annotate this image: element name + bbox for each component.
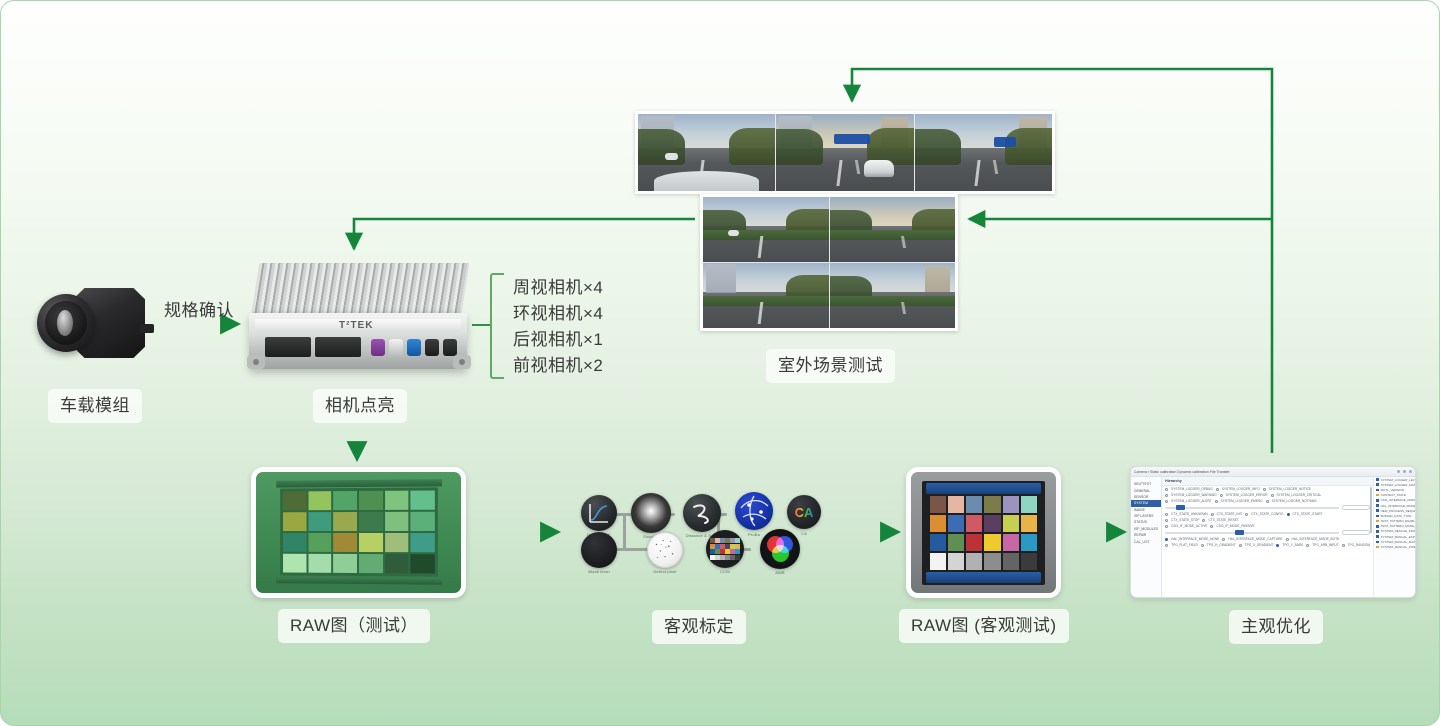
- app-body: SELFTESTGENERALSENSORSYSTEMIMAGEISP LAYE…: [1131, 477, 1415, 598]
- app-slider-row[interactable]: [1162, 529, 1373, 536]
- road-scene-surround-block: [700, 194, 958, 331]
- app-parameter-label: SYSTEM_MANUAL_EXPOSURE: [1381, 535, 1416, 539]
- ccm-patch: [725, 549, 730, 554]
- app-radio-button[interactable]: [1266, 500, 1269, 503]
- colorchecker-patch: [930, 553, 946, 570]
- app-slider-row[interactable]: [1162, 504, 1373, 511]
- calibration-node-caption: Black level: [588, 569, 609, 574]
- app-parameter-item[interactable]: SYSTEM_MANUAL_EXPOSURE: [1374, 534, 1416, 539]
- camera-list-item: 环视相机×4: [513, 301, 603, 327]
- ccm-patch: [725, 544, 730, 549]
- colorchecker-patch: [1021, 515, 1037, 532]
- label-outdoor-scene-test: 室外场景测试: [766, 349, 895, 383]
- app-slider[interactable]: [1165, 507, 1339, 509]
- green-colorchecker-patch: [333, 491, 357, 510]
- label-raw-objective: RAW图 (客观测试): [899, 609, 1069, 643]
- app-radio-button[interactable]: [1201, 544, 1204, 547]
- app-radio-button[interactable]: [1220, 494, 1223, 497]
- app-radio-label: CTX_STATE_INIT: [1217, 512, 1243, 516]
- app-parameter-label: NEW_PROCESS_REQUEST: [1381, 509, 1416, 513]
- ccm-patch: [715, 538, 720, 543]
- app-radio-label: SYSTEM_LOGGER_WARNING: [1171, 493, 1217, 497]
- app-parameter-marker: [1376, 535, 1379, 538]
- app-radio-label: TPG_H_GRADIENT: [1207, 543, 1236, 547]
- green-colorchecker-patch: [411, 533, 435, 552]
- ecu-mount-right: [453, 355, 471, 369]
- app-main-panel: Hierarchy SYSTEM_LOGGER_DEBUGSYSTEM_LOGG…: [1162, 477, 1373, 598]
- green-colorchecker-patch: [283, 512, 306, 531]
- calibration-node-caption: AWB: [775, 570, 785, 575]
- app-parameter-label: CSI2_INTERFACE_MODE: [1381, 498, 1416, 502]
- app-parameter-marker: [1376, 546, 1379, 549]
- diagram-canvas: 车载模组 规格确认 T²TEK 相机点亮 周视相机×4 环视相机×4 后视相机×…: [0, 0, 1440, 726]
- ccm-patch: [730, 549, 735, 554]
- app-radio-button[interactable]: [1239, 544, 1242, 547]
- automotive-camera-module-icon: [21, 280, 161, 366]
- scene-row-upper: [703, 197, 955, 262]
- camera-list-item: 前视相机×2: [513, 353, 603, 379]
- app-radio-label: TPG_V_GRADIENT: [1245, 543, 1274, 547]
- app-radio-label: CTX_STATE_CONFIG: [1251, 512, 1283, 516]
- app-radio-label: CSI2_IF_MODE_ACTIVE: [1171, 524, 1207, 528]
- app-parameter-row[interactable]: TPG_FLAT_FIELDTPG_H_GRADIENTTPG_V_GRADIE…: [1162, 542, 1373, 548]
- app-parameter-list[interactable]: SYSTEM_LOGGER_LEVELSYSTEM_LOGGER_MASKMCT…: [1373, 477, 1416, 598]
- colorchecker-patch: [1021, 534, 1037, 551]
- calibration-node-graph-icon: Distance FF Shading Distance & Scan ProB…: [567, 488, 827, 573]
- app-radio-button[interactable]: [1245, 513, 1248, 516]
- edge-scene-to-ecu: [354, 219, 695, 249]
- colorchecker-patch: [1003, 534, 1019, 551]
- app-parameter-label: SYSTEM_RESCUE_FIRMWARE: [1381, 529, 1416, 533]
- ecu-port-blue: [407, 339, 421, 356]
- calibration-node-distance-ff-icon: [581, 495, 617, 531]
- app-radio-label: TPG_FLAT_FIELD: [1171, 543, 1198, 547]
- app-radio-label: SYSTEM_LOGGER_CRITICAL: [1277, 493, 1322, 497]
- colorchecker-patch: [966, 553, 982, 570]
- calibration-node-black-level-icon: [581, 532, 617, 568]
- calibration-node-caption: ProBa: [748, 532, 760, 537]
- label-camera-module: 车载模组: [48, 389, 142, 423]
- green-colorchecker-patch: [385, 533, 409, 552]
- app-radio-button[interactable]: [1202, 519, 1205, 522]
- label-camera-power-on: 相机点亮: [313, 389, 407, 423]
- green-colorchecker-patch: [308, 533, 331, 552]
- app-parameter-label: MCTL_VERSION: [1381, 488, 1404, 492]
- app-radio-button[interactable]: [1306, 544, 1309, 547]
- ecu-controller-icon: T²TEK: [247, 263, 472, 378]
- app-parameter-item[interactable]: BUFFER_DATA_TYPE: [1374, 513, 1416, 518]
- app-titlebar: Camera ▪ Static calibration Dynamic cali…: [1131, 467, 1415, 477]
- window-minimize-icon[interactable]: [1397, 470, 1400, 473]
- app-radio-label: SYSTEM_LOGGER_EMERG: [1221, 499, 1263, 503]
- colorchecker-patch: [1003, 515, 1019, 532]
- app-parameter-item[interactable]: HAL_INTERFACE_MODE: [1374, 503, 1416, 508]
- app-radio-label: TPG_ARB_INPUT: [1312, 543, 1338, 547]
- app-radio-button[interactable]: [1263, 488, 1266, 491]
- calibration-node-distance-scan-icon: [683, 494, 721, 532]
- scene-photo-surround-4: [829, 263, 956, 328]
- ecu-port-black-b: [443, 339, 457, 356]
- camera-connector: [140, 324, 154, 333]
- app-radio-button[interactable]: [1165, 500, 1168, 503]
- ecu-mount-left: [247, 355, 265, 369]
- green-colorchecker-patch: [385, 491, 409, 510]
- colorchecker-patch: [984, 496, 1000, 513]
- ccm-patch: [715, 555, 720, 560]
- app-titlebar-text: Camera ▪ Static calibration Dynamic cali…: [1134, 470, 1230, 474]
- ecu-connector-b: [315, 337, 361, 357]
- app-parameter-marker: [1376, 509, 1379, 512]
- bracket-stem: [472, 324, 492, 326]
- app-radio-button[interactable]: [1165, 525, 1168, 528]
- colorchecker-grid: [930, 496, 1037, 570]
- ecu-port-black-a: [425, 339, 439, 356]
- app-scrollbar[interactable]: [1370, 487, 1372, 533]
- camera-lens-glass: [57, 310, 73, 336]
- ccm-patch: [715, 544, 720, 549]
- app-parameter-item[interactable]: TEST_PATTERN_MODE_ID: [1374, 524, 1416, 529]
- monitor-bottom-bar: [926, 572, 1041, 583]
- app-value-field[interactable]: [1342, 505, 1370, 510]
- app-radio-button[interactable]: [1222, 538, 1225, 541]
- app-parameter-marker: [1376, 520, 1379, 523]
- ccm-patch: [730, 538, 735, 543]
- colorchecker-patch: [984, 534, 1000, 551]
- app-radio-label: TPG_Y_BARS: [1282, 543, 1303, 547]
- ecu-port-white: [389, 339, 403, 356]
- app-radio-label: HAL_INTERFACE_MODE_NONE: [1171, 537, 1219, 541]
- ccm-patch: [725, 538, 730, 543]
- app-parameter-item[interactable]: SYSTEM_LOGGER_LEVEL: [1374, 477, 1416, 482]
- ecu-brand-text: T²TEK: [339, 320, 373, 331]
- colorchecker-patch: [966, 534, 982, 551]
- app-radio-label: SYSTEM_LOGGER_INFO: [1222, 487, 1260, 491]
- road-scene-top-row: [635, 111, 1055, 194]
- app-radio-label: SYSTEM_LOGGER_NOTHING: [1272, 499, 1317, 503]
- calibration-node-defect-pixel-icon: [647, 532, 683, 568]
- app-radio-button[interactable]: [1165, 538, 1168, 541]
- app-parameter-marker: [1376, 504, 1379, 507]
- app-radio-label: CTX_STATE_STOP: [1171, 518, 1199, 522]
- app-radio-label: SYSTEM_LOGGER_ALERT: [1171, 499, 1212, 503]
- window-maximize-icon[interactable]: [1403, 470, 1406, 473]
- green-colorchecker-patch: [359, 554, 383, 573]
- window-close-icon[interactable]: [1409, 470, 1412, 473]
- camera-list: 周视相机×4 环视相机×4 后视相机×1 前视相机×2: [513, 275, 603, 379]
- camera-list-item: 周视相机×4: [513, 275, 603, 301]
- app-sidebar[interactable]: SELFTESTGENERALSENSORSYSTEMIMAGEISP LAYE…: [1131, 477, 1162, 598]
- app-parameter-label: CONTEXT_STATE: [1381, 493, 1406, 497]
- app-radio-button[interactable]: [1165, 544, 1168, 547]
- green-colorchecker-patch: [308, 554, 331, 573]
- scene-row-lower: [703, 262, 955, 328]
- colorchecker-patch: [930, 534, 946, 551]
- green-colorchecker-patch: [283, 533, 306, 552]
- app-radio-label: SYSTEM_LOGGER_NOTICE: [1269, 487, 1311, 491]
- app-sidebar-item[interactable]: CAL_LIST: [1131, 538, 1161, 544]
- green-colorchecker-patch: [359, 491, 383, 510]
- app-radio-label: HAL_INTERFACE_MODE_BOTH: [1292, 537, 1340, 541]
- ccm-patch: [730, 544, 735, 549]
- app-parameter-item[interactable]: SYSTEM_LOGGER_MASK: [1374, 482, 1416, 487]
- green-colorchecker-patch: [308, 491, 331, 510]
- colorchecker-patch: [1003, 553, 1019, 570]
- cal-link-2: [623, 513, 626, 549]
- app-radio-button[interactable]: [1211, 513, 1214, 516]
- app-parameter-label: TEST_PATTERN_MODE_ID: [1381, 524, 1416, 528]
- app-slider-knob[interactable]: [1176, 505, 1185, 510]
- scene-photo-surround-3: [703, 263, 829, 328]
- ccm-patch: [710, 538, 715, 543]
- app-parameter-label: HAL_INTERFACE_MODE: [1381, 504, 1416, 508]
- colorchecker-patch: [1003, 496, 1019, 513]
- colorchecker-patch: [984, 553, 1000, 570]
- green-colorchecker-patch: [385, 512, 409, 531]
- app-parameter-marker: [1376, 515, 1379, 518]
- calibration-node-awb-icon: [760, 529, 800, 569]
- colorchecker-patch: [948, 534, 964, 551]
- ccm-patch: [710, 544, 715, 549]
- app-parameter-item[interactable]: SYSTEM_MANUAL_PIXELCLOCK: [1374, 544, 1416, 549]
- app-radio-button[interactable]: [1165, 488, 1168, 491]
- app-parameter-marker: [1376, 541, 1379, 544]
- colorchecker-patch: [984, 515, 1000, 532]
- calibration-node-ccm-icon: [706, 530, 744, 568]
- ccm-patch: [720, 538, 725, 543]
- colorchecker-patch: [966, 515, 982, 532]
- app-parameter-label: BUFFER_DATA_TYPE: [1381, 514, 1412, 518]
- app-radio-button[interactable]: [1276, 544, 1279, 547]
- green-colorchecker-patch: [359, 533, 383, 552]
- label-subjective-optimization: 主观优化: [1229, 610, 1323, 644]
- monitor-screen: [922, 481, 1045, 585]
- app-radio-button[interactable]: [1216, 488, 1219, 491]
- app-parameter-marker: [1376, 489, 1379, 492]
- app-radio-label: CSI2_IF_MODE_PASSIVE: [1216, 524, 1254, 528]
- camera-list-bracket: [490, 273, 504, 379]
- green-colorchecker-patch: [411, 512, 435, 531]
- app-parameter-label: SYSTEM_LOGGER_MASK: [1381, 483, 1416, 487]
- ccm-patch: [735, 544, 740, 549]
- calibration-node-shading-icon: [631, 493, 671, 533]
- green-tinted-colorchecker-monitor-icon: [251, 467, 466, 598]
- green-colorchecker-patch: [283, 554, 306, 573]
- ccm-patch: [715, 549, 720, 554]
- app-parameter-item[interactable]: TEST_PATTERN_ENABLE_ID: [1374, 519, 1416, 524]
- green-colorchecker-patch: [308, 512, 331, 531]
- app-parameter-marker: [1376, 499, 1379, 502]
- app-parameter-marker: [1376, 530, 1379, 533]
- scene-photo-front-right: [914, 114, 1052, 191]
- app-radio-button[interactable]: [1271, 494, 1274, 497]
- ccm-patch: [730, 555, 735, 560]
- green-colorchecker-patch: [411, 554, 435, 573]
- app-parameter-marker: [1376, 525, 1379, 528]
- label-raw-test: RAW图（测试）: [278, 609, 430, 643]
- colorchecker-patch: [948, 515, 964, 532]
- green-colorchecker-patch: [359, 512, 383, 531]
- app-parameter-item[interactable]: CSI2_INTERFACE_MODE: [1374, 498, 1416, 503]
- app-parameter-marker: [1376, 483, 1379, 486]
- app-radio-button[interactable]: [1215, 500, 1218, 503]
- colorchecker-patch: [930, 496, 946, 513]
- ccm-patch: [725, 555, 730, 560]
- app-parameter-marker: [1376, 478, 1379, 481]
- app-radio-button[interactable]: [1210, 525, 1213, 528]
- app-radio-button[interactable]: [1165, 513, 1168, 516]
- colorchecker-monitor-icon: [906, 467, 1061, 598]
- app-parameter-rows[interactable]: SYSTEM_LOGGER_DEBUGSYSTEM_LOGGER_INFOSYS…: [1162, 486, 1373, 548]
- green-colorchecker-patch: [385, 554, 409, 573]
- scene-photo-surround-1: [703, 197, 829, 262]
- app-radio-label: SYSTEM_LOGGER_DEBUG: [1171, 487, 1213, 491]
- app-slider-knob[interactable]: [1235, 530, 1244, 535]
- app-subheader: Hierarchy: [1162, 477, 1373, 486]
- green-colorchecker-patch: [333, 512, 357, 531]
- app-radio-button[interactable]: [1165, 519, 1168, 522]
- colorchecker-patch: [948, 553, 964, 570]
- app-parameter-item[interactable]: SYSTEM_MANUAL_MAX_INTEGRATION_TIME: [1374, 539, 1416, 544]
- app-radio-label: SYSTEM_LOGGER_ERROR: [1226, 493, 1268, 497]
- scene-photo-front-left: [638, 114, 775, 191]
- ccm-patch: [735, 549, 740, 554]
- colorchecker-patch: [1021, 553, 1037, 570]
- ccm-patch: [735, 538, 740, 543]
- green-colorchecker-patch: [333, 533, 357, 552]
- label-spec-confirm: 规格确认: [164, 296, 234, 321]
- app-parameter-marker: [1376, 494, 1379, 497]
- app-parameter-label: SYSTEM_MANUAL_MAX_INTEGRATION_TIME: [1381, 540, 1416, 544]
- app-parameter-label: SYSTEM_LOGGER_LEVEL: [1381, 478, 1416, 482]
- app-parameter-label: SYSTEM_MANUAL_PIXELCLOCK: [1381, 545, 1416, 549]
- ccm-patch: [720, 549, 725, 554]
- calibration-node-proba-icon: [735, 492, 773, 530]
- app-parameter-item[interactable]: SYSTEM_RESCUE_FIRMWARE: [1374, 529, 1416, 534]
- tuning-software-window-icon[interactable]: Camera ▪ Static calibration Dynamic cali…: [1130, 466, 1416, 598]
- label-objective-calibration: 客观标定: [652, 610, 746, 644]
- colorchecker-patch: [948, 496, 964, 513]
- app-slider[interactable]: [1165, 532, 1339, 534]
- app-radio-button[interactable]: [1287, 513, 1290, 516]
- ecu-connector-a: [265, 337, 311, 357]
- ccm-patch: [720, 544, 725, 549]
- calibration-node-caption: CCM: [720, 569, 730, 574]
- app-parameter-label: TEST_PATTERN_ENABLE_ID: [1381, 519, 1416, 523]
- scene-photo-surround-2: [829, 197, 956, 262]
- ccm-patch: [735, 555, 740, 560]
- app-radio-button[interactable]: [1286, 538, 1289, 541]
- colorchecker-patch: [930, 515, 946, 532]
- app-radio-label: HAL_INTERFACE_MODE_CAPTURE: [1228, 537, 1282, 541]
- app-parameter-item[interactable]: NEW_PROCESS_REQUEST: [1374, 508, 1416, 513]
- colorchecker-patch: [966, 496, 982, 513]
- app-radio-label: CTX_STATE_RESET: [1208, 518, 1238, 522]
- app-radio-label: CTX_STATE_START: [1293, 512, 1323, 516]
- ecu-heatsink-fins: [251, 263, 470, 319]
- green-colorchecker-patch: [333, 554, 357, 573]
- green-colorchecker-grid: [280, 487, 438, 576]
- monitor-top-bar: [926, 483, 1041, 494]
- app-value-field[interactable]: [1342, 530, 1370, 535]
- ccm-patch: [710, 549, 715, 554]
- app-radio-label: CTX_STATE_UNKNOWN: [1171, 512, 1208, 516]
- calibration-node-caption: Defect pixel: [653, 569, 676, 574]
- ccm-patch: [710, 555, 715, 560]
- calibration-node-caption: CA: [801, 531, 807, 536]
- colorchecker-patch: [1021, 496, 1037, 513]
- scene-photo-front-center: [775, 114, 913, 191]
- ecu-port-purple: [371, 339, 385, 356]
- green-colorchecker-patch: [283, 491, 306, 510]
- app-radio-label: TPG_RANDOM: [1348, 543, 1371, 547]
- app-radio-button[interactable]: [1342, 544, 1345, 547]
- camera-list-item: 后视相机×1: [513, 327, 603, 353]
- app-radio-button[interactable]: [1165, 494, 1168, 497]
- ccm-patch: [720, 555, 725, 560]
- calibration-node-ca-icon: CA: [787, 495, 821, 529]
- green-colorchecker-patch: [411, 490, 435, 509]
